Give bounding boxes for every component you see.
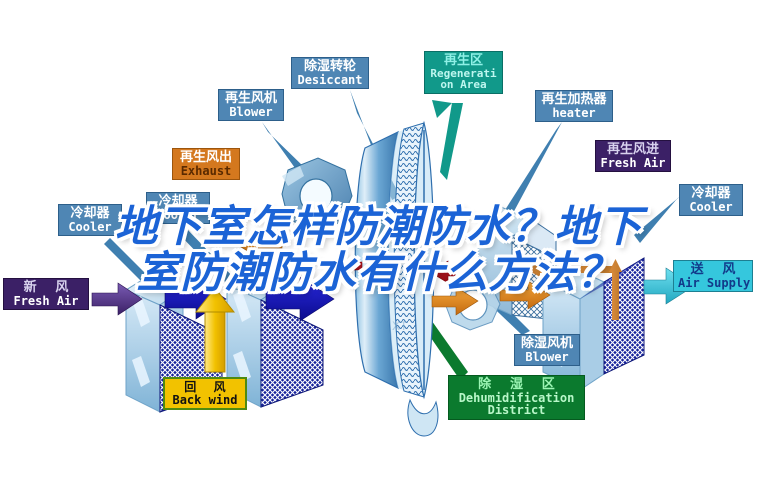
label-fresh-air: 新 风 Fresh Air bbox=[3, 278, 89, 310]
regeneration-blower-unit bbox=[282, 158, 352, 232]
label-back-wind: 回 风 Back wind bbox=[163, 377, 247, 410]
arrow-exhaust bbox=[236, 232, 282, 256]
diagram-artwork: XT bbox=[0, 0, 757, 488]
label-regeneration-exhaust: 再生风出 Exhaust bbox=[172, 148, 240, 180]
arrow-regen-hot-in bbox=[430, 261, 478, 283]
label-cooler-left-2: 冷却器 Cooler bbox=[146, 192, 210, 224]
label-cooler-right: 冷却器 Cooler bbox=[679, 184, 743, 216]
label-regeneration-heater: 再生加热器 heater bbox=[535, 90, 613, 122]
label-cooler-left-1: 冷却器 Cooler bbox=[58, 204, 122, 236]
label-regeneration-fresh-air: 再生风进 Fresh Air bbox=[595, 140, 671, 172]
label-dehumidify-blower: 除湿风机 Blower bbox=[514, 334, 580, 366]
label-air-supply: 送 风 Air Supply bbox=[673, 260, 753, 292]
svg-text:XT: XT bbox=[392, 319, 408, 333]
label-desiccant-wheel: 除湿转轮 Desiccant bbox=[291, 57, 369, 89]
label-dehumidify-district: 除 湿 区 Dehumidification District bbox=[448, 375, 585, 420]
label-regeneration-blower: 再生风机 Blower bbox=[218, 89, 284, 121]
dehumidifier-diagram: XT bbox=[0, 0, 757, 488]
label-regeneration-area: 再生区 Regenerati on Area bbox=[424, 51, 503, 94]
supply-coil-unit bbox=[543, 258, 644, 390]
desiccant-rotor: XT bbox=[355, 123, 438, 436]
